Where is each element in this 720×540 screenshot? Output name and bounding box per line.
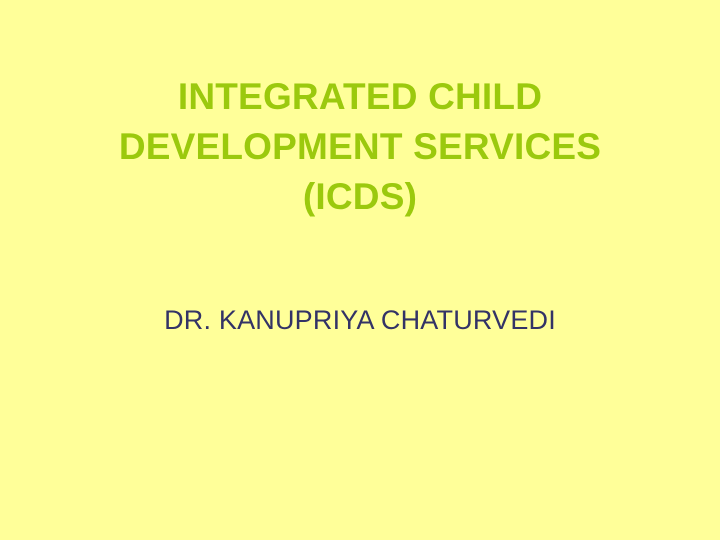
slide-title-line-1: INTEGRATED CHILD [0, 72, 720, 122]
slide-subtitle-author: DR. KANUPRIYA CHATURVEDI [0, 303, 720, 337]
slide-title-line-2: DEVELOPMENT SERVICES [0, 122, 720, 172]
presentation-slide: INTEGRATED CHILD DEVELOPMENT SERVICES (I… [0, 0, 720, 540]
slide-title: INTEGRATED CHILD DEVELOPMENT SERVICES (I… [0, 72, 720, 222]
slide-title-line-3: (ICDS) [0, 172, 720, 222]
slide-subtitle: DR. KANUPRIYA CHATURVEDI [0, 303, 720, 337]
